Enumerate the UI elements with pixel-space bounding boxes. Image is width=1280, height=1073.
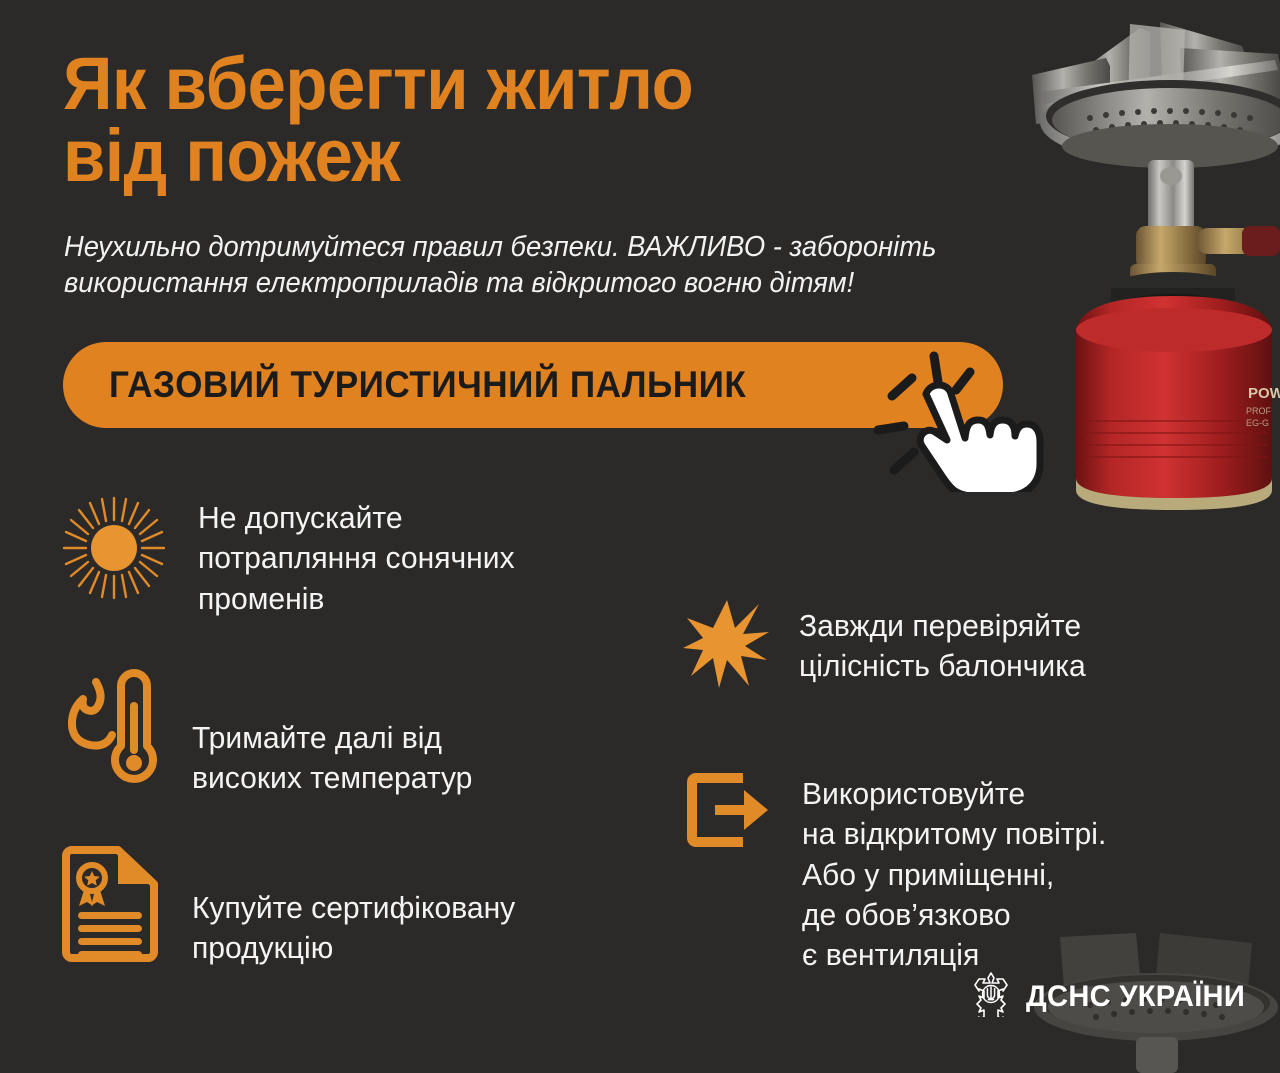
tip-check-canister: Завжди перевіряйте цілісність балончика: [683, 598, 1095, 695]
page-subtitle: Неухильно дотримуйтеся правил безпеки. В…: [64, 229, 1067, 302]
pointing-hand-click-icon[interactable]: [862, 332, 1062, 492]
dsns-cross-emblem-icon: [968, 971, 1014, 1022]
thermometer-flame-icon: [58, 668, 158, 793]
tip-buy-certified: Купуйте сертифіковану продукцію: [58, 846, 525, 969]
dsns-logo: ДСНС УКРАЇНИ: [968, 971, 1252, 1022]
poster: POW PROF EG-G Як вберегти житло від поже…: [0, 0, 1280, 1073]
tip-buy-certified-text: Купуйте сертифіковану продукцію: [192, 846, 515, 969]
sun-rays-icon: [58, 492, 170, 609]
exit-arrow-icon: [686, 772, 770, 853]
tip-keep-away-from-heat: Тримайте далі від високих температур: [58, 668, 481, 799]
svg-text:POW: POW: [1248, 385, 1280, 402]
svg-text:EG-G: EG-G: [1246, 418, 1269, 428]
gas-burner-banner-label: ГАЗОВИЙ ТУРИСТИЧНИЙ ПАЛЬНИК: [109, 364, 746, 406]
tip-use-outdoors: Використовуйте на відкритому повітрі. Аб…: [686, 772, 1116, 975]
burst-star-icon: [683, 598, 771, 695]
tip-avoid-sunlight: Не допускайте потрапляння сонячних проме…: [58, 492, 524, 619]
page-title: Як вберегти житло від пожеж: [63, 48, 900, 192]
dsns-organization-name: ДСНС УКРАЇНИ: [1026, 980, 1245, 1014]
certificate-document-icon: [58, 846, 162, 969]
tip-avoid-sunlight-text: Не допускайте потрапляння сонячних проме…: [198, 492, 515, 619]
tip-check-canister-text: Завжди перевіряйте цілісність балончика: [799, 598, 1086, 687]
tip-use-outdoors-text: Використовуйте на відкритому повітрі. Аб…: [802, 772, 1106, 975]
svg-text:PROF: PROF: [1246, 406, 1272, 416]
tip-keep-away-from-heat-text: Тримайте далі від високих температур: [192, 668, 472, 799]
